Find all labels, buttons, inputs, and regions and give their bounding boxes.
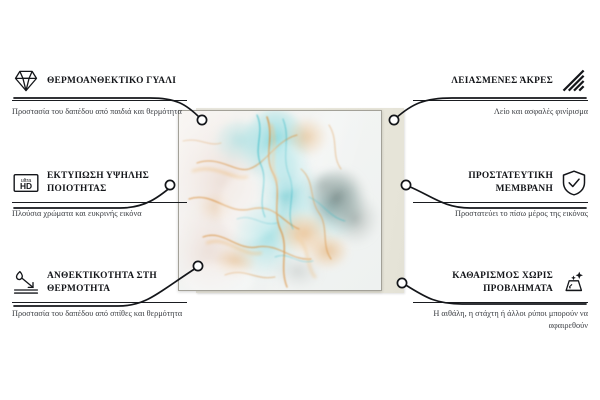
feature-title: ΘΕΡΜΟΑΝΘΕΚΤΙΚΟ ΓΥΑΛΙ [47, 75, 176, 88]
divider [413, 302, 588, 303]
ultra-hd-icon: ultra HD [12, 169, 40, 197]
divider [12, 202, 187, 203]
infographic-canvas: ΘΕΡΜΟΑΝΘΕΚΤΙΚΟ ΓΥΑΛΙ Προστασία του δαπέδ… [0, 0, 600, 400]
feature-description: Προστατεύει το πίσω μέρος της εικόνας [413, 208, 588, 220]
shield-check-icon [560, 169, 588, 197]
feature-title: ΠΡΟΣΤΑΤΕΥΤΙΚΗ ΜΕΜΒΡΑΝΗ [413, 170, 553, 195]
feature-block-protective-membrane: ΠΡΟΣΤΑΤΕΥΤΙΚΗ ΜΕΜΒΡΑΝΗ Προστατεύει το πί… [413, 168, 588, 220]
diamond-icon [12, 67, 40, 95]
feature-title: ΕΚΤΥΠΩΣΗ ΥΨΗΛΗΣ ΠΟΙΟΤΗΤΑΣ [47, 170, 187, 195]
divider [413, 100, 588, 101]
polished-edges-icon [560, 67, 588, 95]
marble-ink-artwork [179, 111, 381, 290]
feature-block-polished-edges: ΛΕΙΑΣΜΕΝΕΣ ΆΚΡΕΣ Λείο και ασφαλές φινίρι… [413, 66, 588, 118]
feature-description: Προστασία του δαπέδου από παιδιά και θερ… [12, 106, 187, 118]
feature-heading: ΑΝΘΕΚΤΙΚΟΤΗΤΑ ΣΤΗ ΘΕΡΜΟΤΗΤΑ [12, 268, 187, 298]
feature-block-high-quality-print: ultra HD ΕΚΤΥΠΩΣΗ ΥΨΗΛΗΣ ΠΟΙΟΤΗΤΑΣ Πλούσ… [12, 168, 187, 220]
feature-description: Προστασία του δαπέδου από σπίθες και θερ… [12, 308, 187, 320]
feature-block-heat-durability: ΑΝΘΕΚΤΙΚΟΤΗΤΑ ΣΤΗ ΘΕΡΜΟΤΗΤΑ Προστασία το… [12, 268, 187, 320]
divider [12, 100, 187, 101]
feature-title: ΚΑΘΑΡΙΣΜΟΣ ΧΩΡΙΣ ΠΡΟΒΛΗΜΑΤΑ [413, 270, 553, 295]
feature-title: ΑΝΘΕΚΤΙΚΟΤΗΤΑ ΣΤΗ ΘΕΡΜΟΤΗΤΑ [47, 270, 187, 295]
feature-description: Λείο και ασφαλές φινίρισμα [413, 106, 588, 118]
divider [12, 302, 187, 303]
feature-heading: ultra HD ΕΚΤΥΠΩΣΗ ΥΨΗΛΗΣ ΠΟΙΟΤΗΤΑΣ [12, 168, 187, 198]
feature-description: Πλούσια χρώματα και ευκρινής εικόνα [12, 208, 187, 220]
feature-block-heat-resistant-glass: ΘΕΡΜΟΑΝΘΕΚΤΙΚΟ ΓΥΑΛΙ Προστασία του δαπέδ… [12, 66, 187, 118]
product-image-glass-panel [178, 110, 382, 291]
feature-heading: ΛΕΙΑΣΜΕΝΕΣ ΆΚΡΕΣ [413, 66, 588, 96]
divider [413, 202, 588, 203]
feature-heading: ΚΑΘΑΡΙΣΜΟΣ ΧΩΡΙΣ ΠΡΟΒΛΗΜΑΤΑ [413, 268, 588, 298]
feature-block-easy-cleaning: ΚΑΘΑΡΙΣΜΟΣ ΧΩΡΙΣ ΠΡΟΒΛΗΜΑΤΑ Η αιθάλη, η … [413, 268, 588, 332]
svg-text:HD: HD [20, 181, 32, 191]
feature-title: ΛΕΙΑΣΜΕΝΕΣ ΆΚΡΕΣ [451, 75, 553, 88]
feature-heading: ΘΕΡΜΟΑΝΘΕΚΤΙΚΟ ΓΥΑΛΙ [12, 66, 187, 96]
feature-heading: ΠΡΟΣΤΑΤΕΥΤΙΚΗ ΜΕΜΒΡΑΝΗ [413, 168, 588, 198]
heat-deflect-icon [12, 269, 40, 297]
sparkle-clean-icon [560, 269, 588, 297]
feature-description: Η αιθάλη, η στάχτη ή άλλοι ρύποι μπορούν… [413, 308, 588, 332]
marble-ink-svg [179, 111, 382, 291]
